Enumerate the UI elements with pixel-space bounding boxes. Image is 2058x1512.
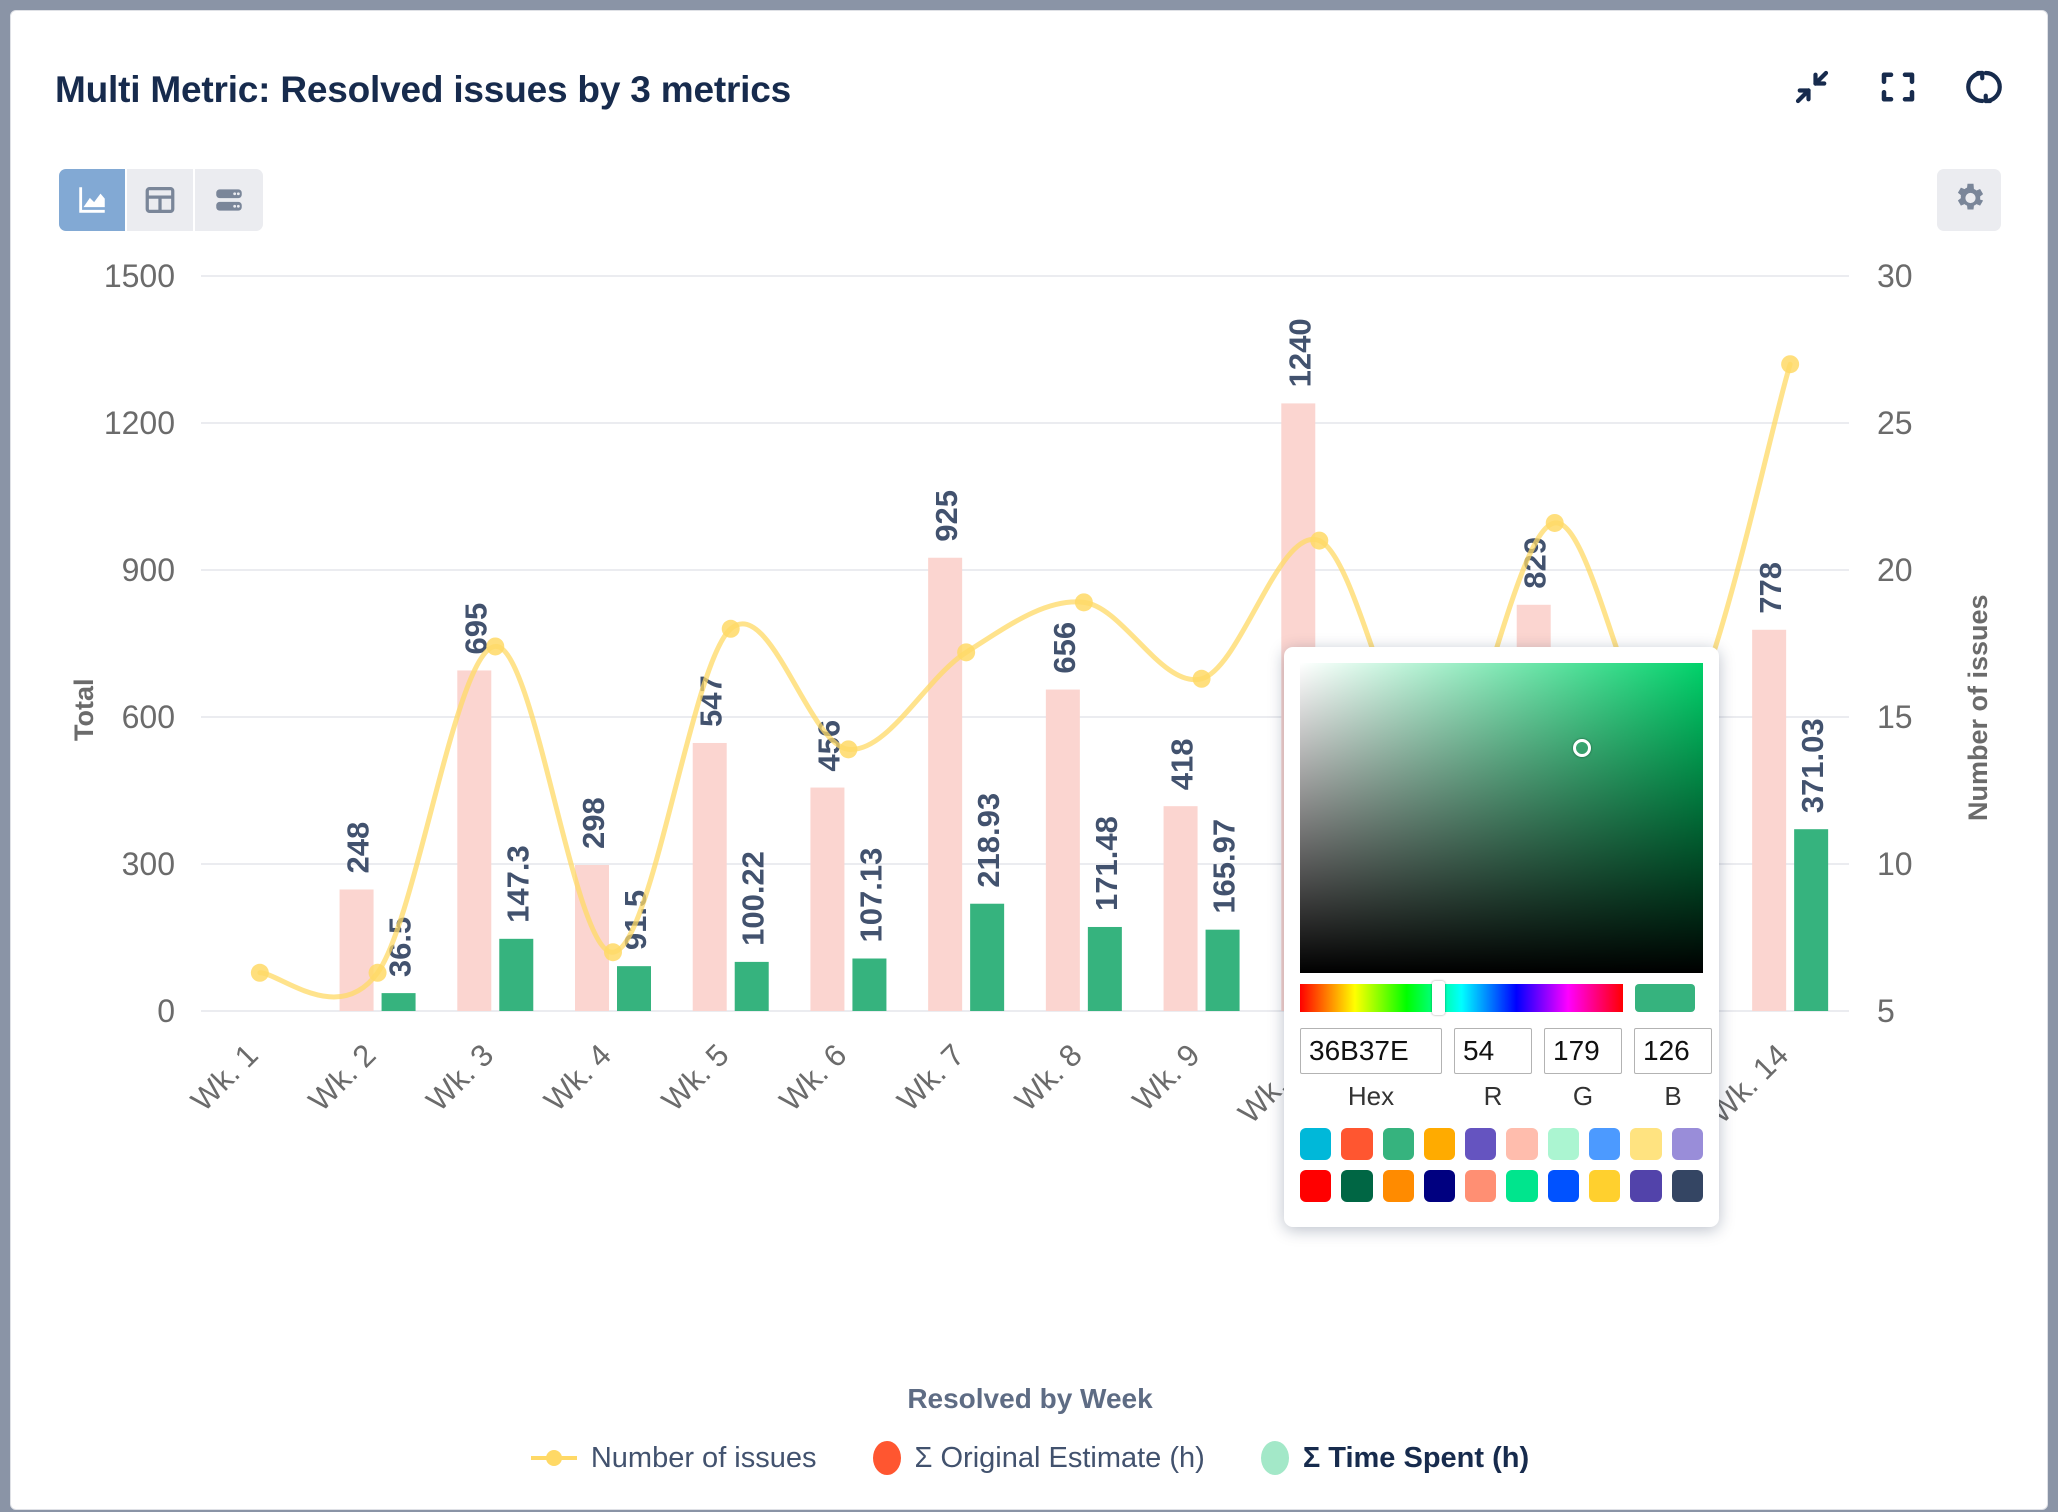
y-axis-right-tick: 5	[1877, 993, 1895, 1029]
line-data-point[interactable]	[604, 943, 622, 961]
list-view-button[interactable]	[195, 169, 263, 231]
preset-swatch[interactable]	[1672, 1128, 1703, 1160]
bar-value-label: 165.97	[1207, 819, 1242, 914]
color-picker-popover: Hex R G B	[1284, 647, 1719, 1227]
preset-swatch[interactable]	[1341, 1128, 1372, 1160]
hex-label: Hex	[1348, 1081, 1394, 1112]
page-title: Multi Metric: Resolved issues by 3 metri…	[55, 69, 791, 111]
preset-swatch-row-2	[1300, 1170, 1703, 1202]
line-data-point[interactable]	[1781, 355, 1799, 373]
gear-icon	[1951, 180, 1987, 221]
line-data-point[interactable]	[369, 964, 387, 982]
y-axis-right-tick: 25	[1877, 405, 1913, 441]
chart-bar[interactable]	[1752, 630, 1786, 1011]
preset-swatch[interactable]	[1300, 1128, 1331, 1160]
line-data-point[interactable]	[486, 637, 504, 655]
chart-svg: 0300600900120015005101520253024869529854…	[11, 241, 2048, 1241]
line-data-point[interactable]	[839, 740, 857, 758]
preset-swatch[interactable]	[1383, 1128, 1414, 1160]
hue-slider-thumb[interactable]	[1432, 981, 1445, 1015]
bar-value-label: 371.03	[1795, 718, 1830, 813]
chart-bar[interactable]	[617, 966, 651, 1011]
chart-bar[interactable]	[1088, 927, 1122, 1011]
rows-icon	[212, 183, 246, 217]
saturation-value-area[interactable]	[1300, 663, 1703, 973]
line-data-point[interactable]	[957, 643, 975, 661]
preset-swatch[interactable]	[1589, 1170, 1620, 1202]
color-value-fields: Hex R G B	[1300, 1028, 1703, 1112]
bar-value-label: 656	[1047, 622, 1082, 674]
chart-legend: Number of issuesΣ Original Estimate (h)Σ…	[11, 1441, 2048, 1475]
color-pointer-handle[interactable]	[1573, 739, 1591, 757]
preset-swatch[interactable]	[1589, 1128, 1620, 1160]
line-data-point[interactable]	[1310, 532, 1328, 550]
preset-swatch[interactable]	[1548, 1128, 1579, 1160]
chart-bar[interactable]	[1794, 829, 1828, 1011]
preset-swatch[interactable]	[1630, 1128, 1661, 1160]
settings-button[interactable]	[1937, 169, 2001, 231]
chart-area: 0300600900120015005101520253024869529854…	[11, 241, 2048, 1241]
preset-swatch[interactable]	[1506, 1170, 1537, 1202]
green-label: G	[1573, 1081, 1593, 1112]
area-chart-icon	[75, 183, 109, 217]
x-axis-tick-label: Wk. 7	[890, 1037, 971, 1118]
preset-swatches	[1300, 1128, 1703, 1202]
legend-dot-icon	[1261, 1441, 1289, 1475]
red-label: R	[1484, 1081, 1503, 1112]
color-preview-swatch	[1635, 984, 1695, 1012]
chart-bar[interactable]	[1046, 690, 1080, 1011]
preset-swatch[interactable]	[1341, 1170, 1372, 1202]
blue-label: B	[1664, 1081, 1681, 1112]
y-axis-left-tick: 900	[122, 552, 175, 588]
y-axis-right-tick: 20	[1877, 552, 1913, 588]
bar-value-label: 171.48	[1089, 816, 1124, 911]
bar-value-label: 107.13	[853, 848, 888, 943]
bar-value-label: 218.93	[971, 793, 1006, 888]
legend-item-label: Σ Original Estimate (h)	[915, 1442, 1205, 1475]
bar-value-label: 298	[576, 797, 611, 849]
chart-bar[interactable]	[457, 670, 491, 1011]
line-data-point[interactable]	[1193, 670, 1211, 688]
chart-bar[interactable]	[499, 939, 533, 1011]
legend-item-label: Number of issues	[591, 1442, 817, 1475]
preset-swatch[interactable]	[1465, 1128, 1496, 1160]
chart-gadget-panel: Multi Metric: Resolved issues by 3 metri…	[10, 10, 2048, 1510]
table-view-button[interactable]	[127, 169, 195, 231]
preset-swatch[interactable]	[1548, 1170, 1579, 1202]
x-axis-tick-label: Wk. 6	[773, 1037, 854, 1118]
y-axis-left-tick: 600	[122, 699, 175, 735]
red-input[interactable]	[1454, 1028, 1532, 1074]
chart-bar[interactable]	[970, 904, 1004, 1011]
preset-swatch[interactable]	[1424, 1128, 1455, 1160]
bar-value-label: 100.22	[736, 851, 771, 946]
bar-value-label: 248	[341, 822, 376, 874]
hex-input[interactable]	[1300, 1028, 1442, 1074]
line-data-point[interactable]	[722, 620, 740, 638]
line-data-point[interactable]	[251, 964, 269, 982]
preset-swatch[interactable]	[1383, 1170, 1414, 1202]
blue-input[interactable]	[1634, 1028, 1712, 1074]
fullscreen-icon[interactable]	[1877, 66, 1919, 108]
chart-bar[interactable]	[810, 788, 844, 1011]
x-axis-tick-label: Wk. 4	[537, 1037, 618, 1118]
view-switcher	[59, 169, 263, 231]
grid-icon	[143, 183, 177, 217]
x-axis-tick-label: Wk. 9	[1126, 1037, 1207, 1118]
y-axis-left-tick: 300	[122, 846, 175, 882]
legend-line-icon	[531, 1448, 577, 1468]
y-axis-right-title: Number of issues	[1963, 594, 1994, 821]
x-axis-title: Resolved by Week	[11, 1383, 2048, 1415]
x-axis-tick-label: Wk. 8	[1008, 1037, 1089, 1118]
y-axis-right-tick: 10	[1877, 846, 1913, 882]
y-axis-left-tick: 1500	[104, 258, 175, 294]
y-axis-right-tick: 30	[1877, 258, 1913, 294]
y-axis-right-tick: 15	[1877, 699, 1913, 735]
chart-bar[interactable]	[693, 743, 727, 1011]
legend-item[interactable]: Number of issues	[531, 1442, 817, 1475]
chart-view-button[interactable]	[59, 169, 127, 231]
x-axis-tick-label: Wk. 2	[302, 1037, 383, 1118]
chart-bar[interactable]	[382, 993, 416, 1011]
hue-row	[1300, 984, 1703, 1012]
preset-swatch[interactable]	[1300, 1170, 1331, 1202]
bar-value-label: 925	[929, 490, 964, 542]
chart-bar[interactable]	[1206, 930, 1240, 1011]
chart-bar[interactable]	[852, 959, 886, 1011]
preset-swatch[interactable]	[1465, 1170, 1496, 1202]
line-data-point[interactable]	[1075, 593, 1093, 611]
hue-slider[interactable]	[1300, 984, 1623, 1012]
preset-swatch[interactable]	[1506, 1128, 1537, 1160]
x-axis-tick-label: Wk. 3	[419, 1037, 500, 1118]
legend-dot-icon	[873, 1441, 901, 1475]
line-data-point[interactable]	[1546, 514, 1564, 532]
y-axis-left-tick: 1200	[104, 405, 175, 441]
preset-swatch[interactable]	[1630, 1170, 1661, 1202]
header-actions	[1791, 66, 2005, 108]
chart-bar[interactable]	[928, 558, 962, 1011]
x-axis-tick-label: Wk. 5	[655, 1037, 736, 1118]
collapse-icon[interactable]	[1791, 66, 1833, 108]
x-axis-tick-label: Wk. 1	[184, 1037, 265, 1118]
legend-item-label: Σ Time Spent (h)	[1303, 1442, 1529, 1475]
green-input[interactable]	[1544, 1028, 1622, 1074]
bar-value-label: 778	[1753, 562, 1788, 614]
y-axis-left-title: Total	[69, 679, 100, 742]
refresh-icon[interactable]	[1963, 66, 2005, 108]
bar-value-label: 1240	[1282, 318, 1317, 387]
bar-value-label: 147.3	[500, 845, 535, 923]
y-axis-left-tick: 0	[157, 993, 175, 1029]
legend-item[interactable]: Σ Original Estimate (h)	[873, 1441, 1205, 1475]
preset-swatch[interactable]	[1672, 1170, 1703, 1202]
bar-value-label: 418	[1165, 738, 1200, 790]
preset-swatch-row-1	[1300, 1128, 1703, 1160]
chart-bar[interactable]	[1164, 806, 1198, 1011]
chart-bar[interactable]	[735, 962, 769, 1011]
legend-item[interactable]: Σ Time Spent (h)	[1261, 1441, 1529, 1475]
preset-swatch[interactable]	[1424, 1170, 1455, 1202]
